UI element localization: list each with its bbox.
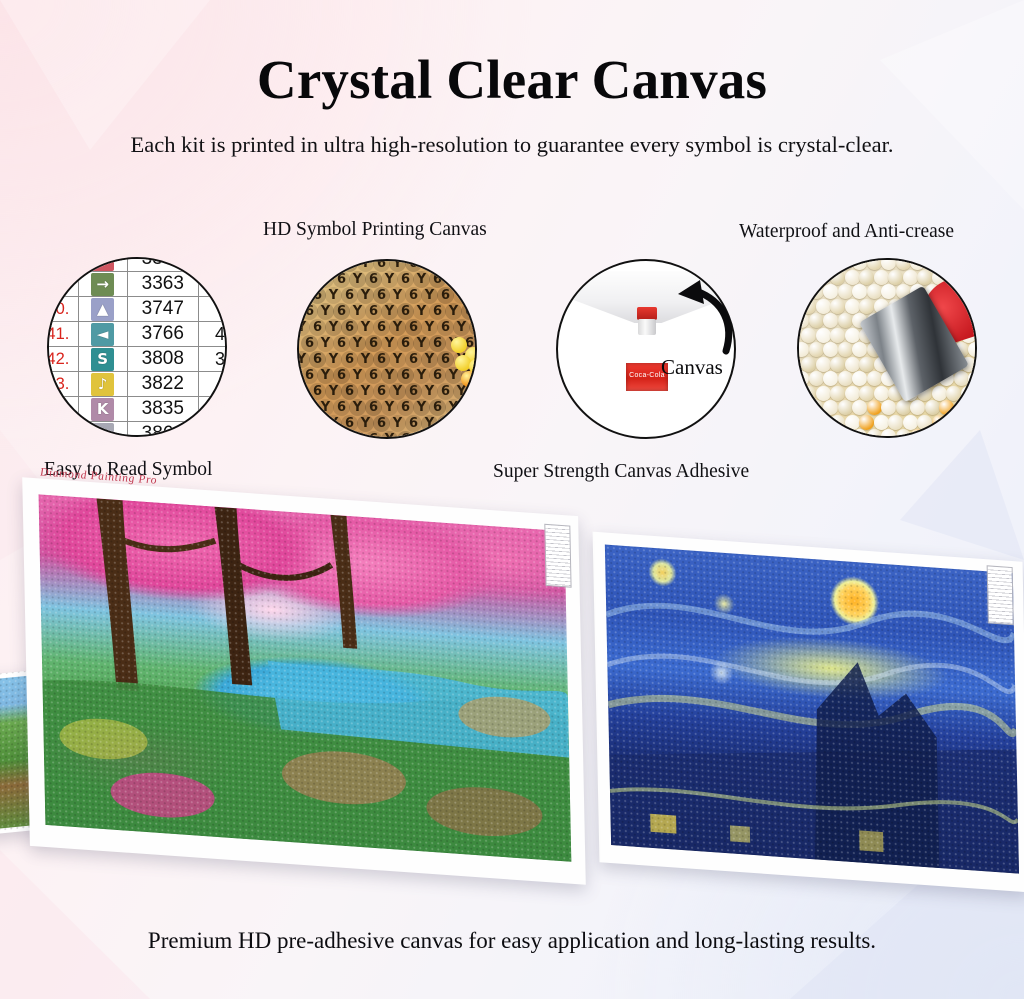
diamond-bead <box>975 415 977 430</box>
diamond-bead <box>946 386 961 401</box>
canvas-printed-symbol: Y <box>325 415 342 432</box>
canvas-printed-symbol: Y <box>389 259 406 272</box>
diamond-bead <box>823 258 838 270</box>
canvas-printed-symbol: 6 <box>341 319 358 336</box>
canvas-printed-symbol: Y <box>389 319 406 336</box>
diamond-bead <box>830 328 845 343</box>
diamond-bead <box>881 400 896 415</box>
canvas-printed-symbol: 6 <box>437 319 454 336</box>
symbol-table-row: 40.▲37475 <box>47 297 227 322</box>
diamond-bead <box>867 429 882 438</box>
diamond-bead <box>859 415 874 430</box>
footer-caption: Premium HD pre-adhesive canvas for easy … <box>0 928 1024 954</box>
symbol-row-count <box>198 257 227 272</box>
diamond-bead <box>838 313 853 328</box>
diamond-bead <box>801 328 816 343</box>
diamond-bead <box>809 342 824 357</box>
canvas-printed-symbol: Y <box>357 415 374 432</box>
diamond-bead <box>816 357 831 372</box>
canvas-printed-symbol: Y <box>349 431 366 439</box>
symbol-table-row: K3835 <box>47 397 227 422</box>
symbol-row-code: 3860 <box>127 422 198 438</box>
diamond-bead <box>809 400 824 415</box>
diamond-bead <box>823 429 838 438</box>
canvas-printed-symbol: Y <box>381 367 398 384</box>
diamond-bead <box>801 270 816 285</box>
curved-arrow-icon <box>660 277 740 357</box>
diamond-bead <box>823 371 838 386</box>
diamond-bead <box>954 258 969 270</box>
canvas-printed-symbol: 6 <box>397 303 414 320</box>
canvas-printed-symbol: 6 <box>341 415 358 432</box>
canvas-printed-symbol: Y <box>445 431 462 439</box>
diamond-bead <box>801 299 816 314</box>
canvas-printed-symbol: Y <box>317 367 334 384</box>
diamond-bead <box>961 386 976 401</box>
canvas-printed-symbol: 6 <box>429 431 446 439</box>
diamond-bead <box>925 400 940 415</box>
canvas-printed-symbol: 6 <box>469 415 477 432</box>
diamond-bead <box>838 258 853 270</box>
canvas-symbol-grid: Y6Y6Y6Y6Y6Y66Y6Y6Y6Y6Y6YY6Y6Y6Y6Y6Y66Y6Y… <box>297 259 477 439</box>
symbol-table-row: →3363 <box>47 272 227 297</box>
dmc-symbol-icon: ① <box>91 423 114 438</box>
symbol-row-number: 40. <box>47 297 78 322</box>
canvas-printed-symbol: Y <box>357 259 374 272</box>
canvas-printed-symbol: 6 <box>341 287 358 304</box>
diamond-bead <box>917 415 932 430</box>
canvas-printed-symbol: Y <box>357 287 374 304</box>
canvas-printed-symbol: 6 <box>405 383 422 400</box>
symbol-row-number <box>47 422 78 438</box>
canvas-printed-symbol: 6 <box>437 287 454 304</box>
diamond-bead <box>845 415 860 430</box>
canvas-printed-symbol: Y <box>413 271 430 288</box>
symbol-row-count <box>198 422 227 438</box>
feature-circle-waterproof-and-anti-crease <box>797 258 977 438</box>
canvas-printed-symbol: Y <box>389 287 406 304</box>
canvas-printed-symbol: 6 <box>301 367 318 384</box>
symbol-row-glyph-cell: K <box>78 397 127 422</box>
canvas-printed-symbol: 6 <box>397 271 414 288</box>
diamond-bead <box>845 270 860 285</box>
canvas-printed-symbol: Y <box>325 287 342 304</box>
symbol-row-code: 3352 <box>127 257 198 272</box>
canvas-printed-symbol: Y <box>445 271 462 288</box>
diamond-bead <box>859 299 874 314</box>
canvas-printed-symbol: Y <box>349 271 366 288</box>
canvas-printed-symbol: Y <box>349 335 366 352</box>
diamond-bead <box>845 386 860 401</box>
diamond-bead <box>896 429 911 438</box>
canvas-printed-symbol: 6 <box>373 351 390 368</box>
diamond-bead <box>852 400 867 415</box>
diamond-bead <box>823 313 838 328</box>
canvas-printed-symbol: Y <box>325 319 342 336</box>
diamond-bead <box>954 371 969 386</box>
canvas-printed-symbol: Y <box>381 335 398 352</box>
diamond-bead <box>954 429 969 438</box>
diamond-bead <box>961 415 976 430</box>
canvas-printed-symbol: Y <box>413 431 430 439</box>
diamond-bead <box>874 270 889 285</box>
diamond-bead <box>830 415 845 430</box>
starry-night-art <box>605 545 1019 874</box>
canvas-printed-symbol: 6 <box>365 271 382 288</box>
canvas-printed-symbol: Y <box>381 271 398 288</box>
diamond-bead <box>859 386 874 401</box>
waterproof-beads-closeup <box>799 260 975 436</box>
diamond-bead <box>917 270 932 285</box>
canvas-printed-symbol: Y <box>453 259 470 272</box>
diamond-bead <box>801 386 816 401</box>
canvas-printed-symbol: 6 <box>333 303 350 320</box>
canvas-printed-symbol: 6 <box>365 399 382 416</box>
canvas-printed-symbol: 6 <box>333 335 350 352</box>
diamond-bead <box>867 258 882 270</box>
canvas-printed-symbol: 6 <box>301 303 318 320</box>
diamond-bead <box>809 313 824 328</box>
canvas-printed-symbol: 6 <box>309 319 326 336</box>
canvas-printed-symbol: 6 <box>461 431 477 439</box>
canvas-printed-symbol: 6 <box>429 271 446 288</box>
symbol-row-code: 3766 <box>127 322 198 347</box>
symbol-row-number <box>47 397 78 422</box>
diamond-bead <box>925 429 940 438</box>
canvas-printed-symbol: 6 <box>301 431 318 439</box>
symbol-row-glyph-cell: ① <box>78 422 127 438</box>
symbol-table-row: 43.♪38223 <box>47 372 227 397</box>
canvas-printed-symbol: 6 <box>397 367 414 384</box>
symbol-row-glyph-cell: → <box>78 272 127 297</box>
cherry-blossom-art <box>39 494 572 861</box>
canvas-printed-symbol: Y <box>421 415 438 432</box>
diamond-bead <box>939 400 954 415</box>
canvas-printed-symbol: 6 <box>405 415 422 432</box>
symbol-chart-closeup: V3352→336340.▲3747541.◄37664242.S3808304… <box>49 259 225 435</box>
canvas-printed-symbol: Y <box>453 319 470 336</box>
diamond-bead <box>809 284 824 299</box>
canvas-printed-symbol: 6 <box>365 335 382 352</box>
dmc-symbol-icon: K <box>91 398 114 421</box>
diamond-bead <box>975 299 977 314</box>
canvas-printed-symbol: 6 <box>405 259 422 272</box>
canvas-printed-symbol: Y <box>421 287 438 304</box>
diamond-bead <box>809 258 824 270</box>
symbol-row-glyph-cell: ♪ <box>78 372 127 397</box>
canvas-printed-symbol: Y <box>381 303 398 320</box>
canvas-printed-symbol: Y <box>421 319 438 336</box>
diamond-bead <box>975 386 977 401</box>
canvas-printed-symbol: 6 <box>309 287 326 304</box>
diamond-bead <box>823 284 838 299</box>
diamond-bead <box>910 400 925 415</box>
diamond-bead <box>809 371 824 386</box>
canvas-printed-symbol: 6 <box>429 335 446 352</box>
diamond-bead <box>954 400 969 415</box>
diamond-bead <box>910 258 925 270</box>
canvas-printed-symbol: 6 <box>309 383 326 400</box>
diamond-bead <box>968 258 977 270</box>
canvas-printed-symbol: Y <box>413 303 430 320</box>
canvas-printed-symbol: 6 <box>333 271 350 288</box>
diamond-bead <box>859 357 874 372</box>
symbol-row-glyph-cell: ▲ <box>78 297 127 322</box>
canvas-printed-symbol: Y <box>349 367 366 384</box>
symbol-table-row: V3352 <box>47 257 227 272</box>
canvas-printed-symbol: Y <box>317 271 334 288</box>
canvas-printed-symbol: 6 <box>437 383 454 400</box>
canvas-printed-symbol: 6 <box>405 287 422 304</box>
dmc-symbol-icon: S <box>91 348 114 371</box>
diamond-bead <box>461 371 477 387</box>
canvas-printed-symbol: Y <box>381 431 398 439</box>
diamond-bead <box>838 284 853 299</box>
canvas-printed-symbol: Y <box>453 287 470 304</box>
symbol-table-row: ①3860 <box>47 422 227 438</box>
diamond-bead <box>932 386 947 401</box>
diamond-bead <box>975 270 977 285</box>
canvas-printed-symbol: 6 <box>397 335 414 352</box>
diamond-bead <box>845 357 860 372</box>
canvas-printed-symbol: 6 <box>461 303 477 320</box>
symbol-row-count <box>198 272 227 297</box>
canvas-printed-symbol: 6 <box>333 431 350 439</box>
symbol-row-count: 30 <box>198 347 227 372</box>
diamond-bead <box>888 415 903 430</box>
canvas-printed-symbol: 6 <box>341 351 358 368</box>
diamond-bead <box>881 284 896 299</box>
diamond-bead <box>830 270 845 285</box>
canvas-printed-symbol: Y <box>453 415 470 432</box>
canvas-printed-symbol: 6 <box>397 431 414 439</box>
diamond-bead <box>845 299 860 314</box>
diamond-bead <box>797 313 809 328</box>
canvas-printed-symbol: Y <box>325 351 342 368</box>
canvas-printed-symbol: Y <box>357 351 374 368</box>
page-title: Crystal Clear Canvas <box>0 52 1024 107</box>
canvas-printed-symbol: 6 <box>437 351 454 368</box>
dmc-symbol-icon: ▲ <box>91 298 114 321</box>
canvas-printed-symbol: Y <box>317 303 334 320</box>
diamond-bead <box>939 258 954 270</box>
diamond-bead <box>925 258 940 270</box>
symbol-row-code: 3835 <box>127 397 198 422</box>
dmc-symbol-icon: V <box>91 257 114 271</box>
canvas-printed-symbol: Y <box>389 383 406 400</box>
diamond-bead <box>816 415 831 430</box>
diamond-bead <box>888 270 903 285</box>
canvas-printed-symbol: Y <box>317 431 334 439</box>
page-subtitle: Each kit is printed in ultra high-resolu… <box>0 132 1024 158</box>
symbol-row-glyph-cell: V <box>78 257 127 272</box>
drill-texture <box>39 494 572 861</box>
symbol-row-count: 3 <box>198 372 227 397</box>
canvas-printed-symbol: 6 <box>461 399 477 416</box>
diamond-bead <box>823 342 838 357</box>
diamond-bead <box>838 342 853 357</box>
diamond-bead <box>797 342 809 357</box>
canvas-printed-symbol: 6 <box>373 287 390 304</box>
drill-texture <box>605 545 1019 874</box>
symbol-row-code: 3808 <box>127 347 198 372</box>
canvas-printed-symbol: Y <box>349 303 366 320</box>
diamond-bead <box>910 429 925 438</box>
canvas-printed-symbol: Y <box>389 351 406 368</box>
diamond-bead <box>816 386 831 401</box>
diamond-bead <box>797 429 809 438</box>
dmc-symbol-icon: ◄ <box>91 323 114 346</box>
canvas-printed-symbol: 6 <box>333 399 350 416</box>
symbol-row-number: 42. <box>47 347 78 372</box>
canvas-printed-symbol: Y <box>317 399 334 416</box>
diamond-bead <box>797 258 809 270</box>
canvas-printed-symbol: Y <box>325 383 342 400</box>
canvas-printed-symbol: Y <box>349 399 366 416</box>
diamond-bead <box>946 415 961 430</box>
canvas-printed-symbol: 6 <box>405 351 422 368</box>
diamond-bead <box>852 284 867 299</box>
diamond-bead <box>809 429 824 438</box>
canvas-printed-symbol: 6 <box>373 259 390 272</box>
symbol-row-count: 42 <box>198 322 227 347</box>
symbol-row-count: 5 <box>198 297 227 322</box>
diamond-bead <box>968 400 977 415</box>
diamond-bead <box>903 415 918 430</box>
symbol-row-number: 43. <box>47 372 78 397</box>
diamond-bead <box>881 258 896 270</box>
canvas-printed-symbol: Y <box>445 399 462 416</box>
canvas-printed-symbol: 6 <box>437 259 454 272</box>
diamond-bead <box>975 357 977 372</box>
diamond-bead <box>838 429 853 438</box>
canvas-printed-symbol: Y <box>381 399 398 416</box>
symbol-legend-strip <box>987 565 1014 625</box>
canvas-printed-symbol: Y <box>413 399 430 416</box>
symbol-table-row: 42.S380830 <box>47 347 227 372</box>
canvas-printed-symbol: Y <box>325 259 342 272</box>
symbol-legend-strip <box>544 524 571 588</box>
diamond-bead <box>816 270 831 285</box>
canvas-callout-label: Canvas <box>661 355 723 380</box>
diamond-bead <box>845 328 860 343</box>
diamond-bead <box>968 371 977 386</box>
symbol-row-number <box>47 272 78 297</box>
canvas-printed-symbol: 6 <box>301 271 318 288</box>
canvas-printed-symbol: 6 <box>429 367 446 384</box>
canvas-printed-symbol: 6 <box>365 367 382 384</box>
diamond-bead <box>816 299 831 314</box>
product-showcase: Diamond Painting Pro <box>0 493 1024 913</box>
canvas-printed-symbol: 6 <box>397 399 414 416</box>
canvas-printed-symbol: 6 <box>461 271 477 288</box>
symbol-row-glyph-cell: S <box>78 347 127 372</box>
canvas-printed-symbol: 6 <box>309 351 326 368</box>
diamond-bead <box>939 429 954 438</box>
symbol-row-code: 3747 <box>127 297 198 322</box>
diamond-bead <box>830 299 845 314</box>
printed-canvas-closeup: Y6Y6Y6Y6Y6Y66Y6Y6Y6Y6Y6YY6Y6Y6Y6Y6Y66Y6Y… <box>299 261 475 437</box>
feature-circle-hd-symbol-printing-canvas: Y6Y6Y6Y6Y6Y66Y6Y6Y6Y6Y6YY6Y6Y6Y6Y6Y66Y6Y… <box>297 259 477 439</box>
canvas-printed-symbol: 6 <box>341 383 358 400</box>
diamond-bead <box>797 400 809 415</box>
symbol-table: V3352→336340.▲3747541.◄37664242.S3808304… <box>47 257 227 437</box>
diamond-bead <box>838 371 853 386</box>
symbol-row-code: 3363 <box>127 272 198 297</box>
canvas-printed-symbol: 6 <box>469 319 477 336</box>
diamond-bead <box>867 284 882 299</box>
canvas-printed-symbol: 6 <box>429 303 446 320</box>
canvas-printed-symbol: 6 <box>301 399 318 416</box>
canvas-printed-symbol: Y <box>317 335 334 352</box>
symbol-row-number <box>47 257 78 272</box>
canvas-printed-symbol: 6 <box>365 303 382 320</box>
diamond-bead <box>797 371 809 386</box>
canvas-printed-symbol: 6 <box>373 319 390 336</box>
diamond-bead <box>867 371 882 386</box>
diamond-bead <box>830 357 845 372</box>
canvas-printed-symbol: Y <box>421 351 438 368</box>
symbol-chart-table: V3352→336340.▲3747541.◄37664242.S3808304… <box>47 257 227 437</box>
canvas-printed-symbol: 6 <box>309 415 326 432</box>
canvas-printed-symbol: Y <box>357 383 374 400</box>
canvas-printed-symbol: 6 <box>429 399 446 416</box>
diamond-bead <box>881 429 896 438</box>
diamond-bead <box>816 328 831 343</box>
canvas-printed-symbol: Y <box>445 303 462 320</box>
canvas-printed-symbol: Y <box>421 259 438 272</box>
canvas-printed-symbol: 6 <box>309 259 326 272</box>
canvas-printed-symbol: 6 <box>405 319 422 336</box>
product-canvas-starry-night[interactable] <box>593 532 1024 893</box>
symbol-row-glyph-cell: ◄ <box>78 322 127 347</box>
symbol-row-count <box>198 397 227 422</box>
feature-label-waterproof-and-anti-crease: Waterproof and Anti-crease <box>739 221 954 243</box>
diamond-bead <box>874 415 889 430</box>
diamond-bead <box>801 357 816 372</box>
diamond-bead <box>852 371 867 386</box>
canvas-printed-symbol: Y <box>413 367 430 384</box>
feature-label-hd-symbol-printing-canvas: HD Symbol Printing Canvas <box>263 219 487 241</box>
symbol-row-code: 3822 <box>127 372 198 397</box>
diamond-bead <box>823 400 838 415</box>
canvas-printed-symbol: Y <box>421 383 438 400</box>
canvas-printed-symbol: 6 <box>333 367 350 384</box>
diamond-bead <box>874 386 889 401</box>
feature-label-super-strength-canvas-adhesive: Super Strength Canvas Adhesive <box>493 461 749 483</box>
diamond-bead <box>838 400 853 415</box>
canvas-printed-symbol: Y <box>413 335 430 352</box>
feature-circle-easy-to-read-symbol: V3352→336340.▲3747541.◄37664242.S3808304… <box>47 257 227 437</box>
product-canvas-cherry-blossom[interactable]: Diamond Painting Pro <box>22 477 586 885</box>
canvas-printed-symbol: Y <box>357 319 374 336</box>
canvas-printed-symbol: 6 <box>469 287 477 304</box>
canvas-printed-symbol: 6 <box>365 431 382 439</box>
dmc-symbol-icon: ♪ <box>91 373 114 396</box>
diamond-bead <box>896 400 911 415</box>
diamond-bead <box>797 284 809 299</box>
diamond-bead <box>451 337 467 353</box>
diamond-bead <box>975 328 977 343</box>
diamond-bead <box>801 415 816 430</box>
diamond-bead <box>896 258 911 270</box>
diamond-bead <box>830 386 845 401</box>
diamond-bead <box>859 270 874 285</box>
diamond-bead <box>867 400 882 415</box>
diamond-bead <box>852 258 867 270</box>
symbol-table-row: 41.◄376642 <box>47 322 227 347</box>
diamond-bead <box>852 429 867 438</box>
